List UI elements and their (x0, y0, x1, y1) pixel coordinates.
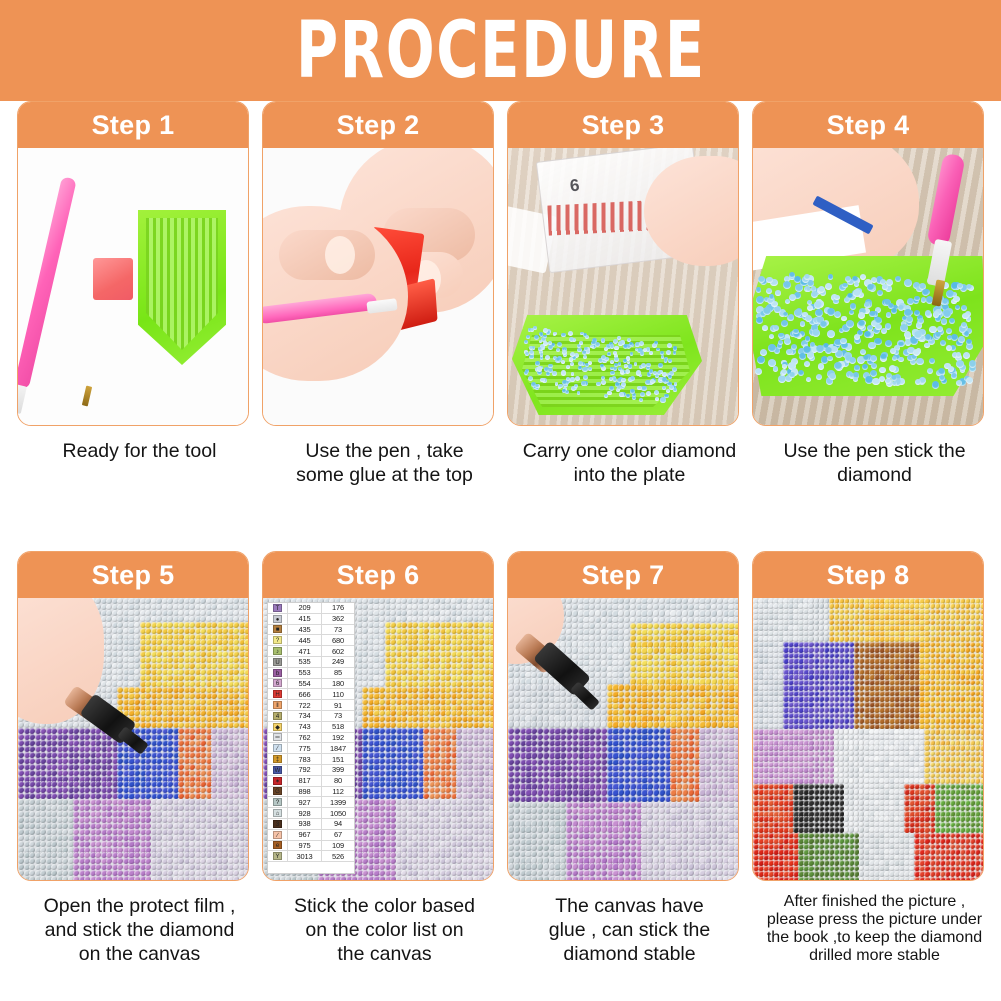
caption-line: the canvas (264, 943, 505, 967)
diamond-bead (244, 829, 248, 835)
diamond-bead (958, 336, 965, 343)
step-badge-label: Step 7 (582, 562, 665, 589)
color-chart-row: ✶81780 (268, 776, 354, 787)
diamond-bead (548, 341, 552, 345)
diamond-bead (850, 303, 857, 310)
diamond-bead (660, 351, 664, 355)
diamond-bead (578, 366, 582, 370)
step-caption-1: Ready for the tool (17, 440, 262, 464)
color-chart-row: b55385 (268, 668, 354, 679)
diamond-bead (244, 616, 248, 622)
step-cell-7: Step 7 The canvas have glue , can stick … (507, 551, 752, 966)
diamond-bead (924, 343, 930, 349)
diamond-bead (582, 367, 587, 372)
color-chart-dmc: 535 (288, 657, 322, 667)
diamond-bead (244, 758, 248, 764)
color-chart-row: e975109 (268, 841, 354, 852)
page-title: PROCEDURE (296, 12, 706, 90)
diamond-bead (933, 311, 940, 318)
color-swatch-symbol: Y (268, 851, 288, 861)
diamond-bead (244, 876, 248, 880)
diamond-bead (244, 628, 248, 634)
diamond-bead (590, 345, 593, 348)
color-chart-row: Y3013526 (268, 851, 354, 862)
color-chart-count: 110 (322, 689, 354, 699)
caption-line: diamond (754, 464, 995, 488)
caption-line: Carry one color diamond (509, 440, 750, 464)
color-swatch-symbol: 3 (268, 819, 288, 829)
color-swatch-symbol: ? (268, 797, 288, 807)
color-chart-count: 526 (322, 851, 354, 861)
diamond-bead (806, 377, 811, 382)
diamond-bead (548, 345, 553, 350)
caption-line: some glue at the top (264, 464, 505, 488)
diamond-bead (619, 392, 624, 397)
diamond-bead (673, 388, 676, 391)
color-swatch-symbol: ✶ (268, 776, 288, 786)
color-swatch-symbol: ⌂ (268, 808, 288, 818)
diamond-bead (244, 610, 248, 616)
diamond-bead (784, 338, 791, 345)
diamond-bead (489, 876, 493, 880)
diamond-bead (489, 829, 493, 835)
diamond-bead (657, 371, 661, 375)
color-chart-count: 94 (322, 819, 354, 829)
color-swatch-symbol: ? (268, 635, 288, 645)
color-chart-row: ⌂9281050 (268, 808, 354, 819)
diamond-bead (575, 376, 580, 381)
diamond-bead (646, 363, 651, 368)
color-chart-row: 393894 (268, 819, 354, 830)
diamond-bead (891, 308, 897, 314)
caption-line: Use the pen , take (264, 440, 505, 464)
diamond-bead (874, 338, 881, 345)
diamond-bead (579, 341, 583, 345)
diamond-bead (789, 272, 795, 278)
color-chart-dmc: 415 (288, 614, 322, 624)
diamond-bead (601, 355, 606, 360)
color-chart-row: 473473 (268, 711, 354, 722)
procedure-infographic: PROCEDURE Step 1 Rea (0, 0, 1001, 1001)
step-cell-1: Step 1 Ready for the tool (17, 101, 262, 464)
diamond-bead (626, 394, 630, 398)
diamond-bead (886, 279, 893, 286)
diamond-bead (244, 699, 248, 705)
color-chart-dmc: 435 (288, 625, 322, 635)
color-chart-count: 112 (322, 787, 354, 797)
diamond-bead (669, 385, 674, 390)
diamond-bead (951, 334, 958, 341)
color-chart-count: 680 (322, 635, 354, 645)
caption-line: and stick the diamond (19, 919, 260, 943)
step-badge-label: Step 6 (337, 562, 420, 589)
diamond-bead (932, 381, 940, 389)
diamond-bead (649, 351, 653, 355)
diamond-bead (524, 371, 528, 375)
diamond-bead (538, 347, 541, 350)
color-swatch-symbol: U (268, 657, 288, 667)
color-chart-count: 109 (322, 841, 354, 851)
color-swatch-symbol: ◆ (268, 722, 288, 732)
step-card-2: Step 2 (262, 101, 494, 426)
color-chart-dmc: 209 (288, 603, 322, 613)
color-chart-row: ■43573 (268, 625, 354, 636)
color-chart-dmc: 975 (288, 841, 322, 851)
diamond-bead (775, 290, 781, 296)
color-chart-count: 85 (322, 668, 354, 678)
step-photo-7 (508, 598, 738, 880)
step-caption-5: Open the protect film , and stick the di… (17, 895, 262, 966)
color-chart-dmc: 938 (288, 819, 322, 829)
diamond-bead (661, 355, 665, 359)
diamond-bead (244, 835, 248, 841)
diamond-bead (762, 325, 768, 331)
color-chart-dmc: 775 (288, 743, 322, 753)
diamond-bead (244, 770, 248, 776)
caption-line: Stick the color based (264, 895, 505, 919)
diamond-bead (805, 336, 811, 342)
step-badge-6: Step 6 (263, 552, 493, 598)
diamond-bead (570, 377, 575, 382)
diamond-bead (863, 355, 869, 361)
color-chart-dmc: 471 (288, 646, 322, 656)
color-chart-count: 91 (322, 700, 354, 710)
step-card-6: Step 6 T209176●415362■43573?445680♪47160… (262, 551, 494, 881)
diamond-bead (828, 274, 834, 280)
diamond-bead (650, 379, 655, 384)
step-photo-5 (18, 598, 248, 880)
diamond-bead (815, 309, 823, 317)
step-badge-4: Step 4 (753, 102, 983, 148)
color-chart-dmc: 967 (288, 830, 322, 840)
diamond-bead (489, 841, 493, 847)
diamond-bead (244, 841, 248, 847)
color-swatch-symbol: 4 (268, 711, 288, 721)
diamond-bead (956, 352, 962, 358)
caption-line: into the plate (509, 464, 750, 488)
diamond-bead (586, 350, 590, 354)
color-chart-count: 1050 (322, 808, 354, 818)
diamond-bead (940, 340, 946, 346)
diamond-bead (758, 276, 765, 283)
diamond-bead (529, 355, 534, 360)
diamond-bead (588, 367, 592, 371)
diamond-bead (829, 373, 836, 380)
steps-grid: Step 1 Ready for the tool Step (0, 101, 1001, 1001)
color-chart-count: 602 (322, 646, 354, 656)
diamond-bead (953, 296, 960, 303)
diamond-bead (629, 342, 633, 346)
diamond-bead (914, 331, 922, 339)
diamond-bead (763, 307, 771, 315)
diamond-bead (614, 357, 619, 362)
color-chart-row: H666110 (268, 689, 354, 700)
diamond-bead (662, 386, 666, 390)
diamond-bead (854, 334, 860, 340)
diamond-bead (922, 289, 929, 296)
step-badge-label: Step 5 (92, 562, 175, 589)
diamond-bead (756, 296, 764, 304)
diamond-bead (798, 370, 804, 376)
diamond-bead (783, 281, 791, 289)
step-cell-3: Step 3 6 Carry one colo (507, 101, 752, 488)
color-chart-count: 180 (322, 679, 354, 689)
diamond-bead (774, 306, 780, 312)
diamond-bead (653, 371, 657, 375)
diamond-bead (860, 349, 866, 355)
diamond-bead (526, 335, 530, 339)
diamond-bead (845, 276, 851, 282)
diamond-bead (962, 313, 969, 320)
color-chart-count: 362 (322, 614, 354, 624)
color-chart-dmc: 553 (288, 668, 322, 678)
color-chart-count: 192 (322, 733, 354, 743)
step-photo-6: T209176●415362■43573?445680♪471602U53524… (263, 598, 493, 880)
step-cell-6: Step 6 T209176●415362■43573?445680♪47160… (262, 551, 507, 966)
color-swatch-symbol: ═ (268, 733, 288, 743)
step-card-3: Step 3 6 (507, 101, 739, 426)
color-chart-count: 399 (322, 765, 354, 775)
diamond-bead (570, 362, 574, 366)
diamond-bead (569, 357, 574, 362)
color-swatch-symbol: e (268, 841, 288, 851)
diamond-bead (854, 365, 859, 370)
diamond-bead (489, 610, 493, 616)
diamond-bead (862, 364, 868, 370)
caption-line: Open the protect film , (19, 895, 260, 919)
diamond-bead (601, 380, 606, 385)
color-chart-dmc: 927 (288, 797, 322, 807)
step-photo-2 (263, 148, 493, 425)
diamond-bead (489, 764, 493, 770)
color-chart-dmc: 666 (288, 689, 322, 699)
diamond-bead (601, 376, 605, 380)
diamond-bead (489, 699, 493, 705)
diamond-bead (914, 296, 920, 302)
color-chart-row: W792399 (268, 765, 354, 776)
diamond-bead (811, 291, 818, 298)
diamond-bead (800, 321, 805, 326)
diamond-bead (244, 693, 248, 699)
color-swatch-symbol: ● (268, 614, 288, 624)
diamond-bead (489, 758, 493, 764)
color-chart-dmc: 743 (288, 722, 322, 732)
caption-line: Use the pen stick the (754, 440, 995, 464)
diamond-bead (601, 338, 605, 342)
diamond-bead (620, 370, 624, 374)
color-swatch-symbol: ♪ (268, 646, 288, 656)
diamond-bead (557, 342, 562, 347)
diamond-bead (937, 326, 943, 332)
color-swatch-symbol: ‡ (268, 754, 288, 764)
color-swatch-symbol: ■ (268, 625, 288, 635)
diamond-bead (807, 300, 812, 305)
diamond-bead (898, 305, 904, 311)
diamond-bead (244, 823, 248, 829)
step-card-1: Step 1 (17, 101, 249, 426)
diamond-bead (489, 681, 493, 687)
color-chart-count: 80 (322, 776, 354, 786)
diamond-bead (489, 770, 493, 776)
diamond-bead (489, 628, 493, 634)
step-badge-label: Step 1 (92, 112, 175, 139)
color-symbol-chart: T209176●415362■43573?445680♪471602U53524… (267, 602, 355, 874)
color-chart-row: ‖72291 (268, 700, 354, 711)
diamond-bead (915, 379, 921, 385)
diamond-bead (640, 351, 645, 356)
diamond-bead (618, 341, 622, 345)
color-chart-row: ═762192 (268, 733, 354, 744)
color-swatch-symbol: H (268, 689, 288, 699)
caption-line: on the color list on (264, 919, 505, 943)
color-chart-dmc: 762 (288, 733, 322, 743)
diamond-bead (552, 371, 557, 376)
diamond-bead (756, 317, 763, 324)
diamond-bead (789, 372, 795, 378)
color-chart-count: 249 (322, 657, 354, 667)
diamond-bead (956, 380, 962, 386)
step-badge-1: Step 1 (18, 102, 248, 148)
diamond-bead (847, 293, 853, 299)
color-swatch-symbol: ⁄ (268, 743, 288, 753)
color-chart-dmc: 554 (288, 679, 322, 689)
color-chart-dmc: 898 (288, 787, 322, 797)
diamond-bead (672, 367, 677, 372)
diamond-bead (637, 386, 642, 391)
color-chart-dmc: 928 (288, 808, 322, 818)
diamond-bead (244, 687, 248, 693)
color-swatch-symbol: W (268, 765, 288, 775)
step-badge-7: Step 7 (508, 552, 738, 598)
color-swatch-symbol: ‖ (268, 700, 288, 710)
diamond-bead (946, 328, 952, 334)
diamond-bead (834, 295, 840, 301)
color-chart-row: ?445680 (268, 635, 354, 646)
diamond-bead (604, 347, 608, 351)
color-swatch-symbol: G (268, 787, 288, 797)
diamond-bead (244, 681, 248, 687)
step-cell-4: Step 4 Use the pen sti (752, 101, 997, 488)
fingernail-icon (325, 236, 355, 274)
steps-row-2: Step 5 Open the protect film , and stick… (0, 551, 1001, 1001)
diamond-bead (630, 352, 634, 356)
diamond-bead (961, 305, 967, 311)
diamond-bead (951, 373, 957, 379)
diamond-bead (489, 693, 493, 699)
diamond-bead (649, 369, 653, 373)
diamond-bead (766, 277, 773, 284)
diamond-bead (489, 823, 493, 829)
diamond-bead (244, 764, 248, 770)
header-banner: PROCEDURE (0, 0, 1001, 101)
diamond-bead (846, 320, 854, 328)
color-swatch-symbol: T (268, 603, 288, 613)
diamond-bead (618, 362, 622, 366)
caption-line: on the canvas (19, 943, 260, 967)
color-chart-count: 1399 (322, 797, 354, 807)
diamond-bead (537, 366, 542, 371)
step-caption-2: Use the pen , take some glue at the top (262, 440, 507, 488)
color-chart-count: 176 (322, 603, 354, 613)
step-card-5: Step 5 (17, 551, 249, 881)
diamond-bead (858, 320, 865, 327)
diamond-bead (528, 376, 533, 381)
step-badge-label: Step 4 (827, 112, 910, 139)
diamond-bead (489, 752, 493, 758)
diamond-bead (628, 364, 633, 369)
color-chart-dmc: 792 (288, 765, 322, 775)
color-chart-row: ♪471602 (268, 646, 354, 657)
color-chart-row: U535249 (268, 657, 354, 668)
diamond-bead (781, 369, 787, 375)
diamond-bead (562, 389, 566, 393)
color-chart-dmc: 734 (288, 711, 322, 721)
color-chart-count: 73 (322, 625, 354, 635)
step-badge-5: Step 5 (18, 552, 248, 598)
step-card-7: Step 7 (507, 551, 739, 881)
color-chart-count: 67 (322, 830, 354, 840)
diamond-bead (641, 386, 646, 391)
diamond-bead (925, 310, 931, 316)
diamond-bead (794, 309, 802, 317)
diamond-bead (664, 359, 668, 363)
color-chart-dmc: 783 (288, 754, 322, 764)
diamond-bead (654, 390, 659, 395)
step-badge-label: Step 2 (337, 112, 420, 139)
diamond-bead (244, 622, 248, 628)
diamond-bead (607, 391, 611, 395)
glue-square-icon (93, 258, 133, 300)
diamond-bead (864, 331, 871, 338)
diamond-bead (769, 294, 775, 300)
diamond-bead (568, 331, 573, 336)
color-chart-row: G898112 (268, 787, 354, 798)
diamond-bead (786, 349, 792, 355)
diamond-bead (489, 616, 493, 622)
color-chart-row: ⁄7751847 (268, 743, 354, 754)
color-chart-dmc: 722 (288, 700, 322, 710)
diamond-bead (869, 311, 876, 318)
color-swatch-symbol: ∕ (268, 830, 288, 840)
step-photo-4 (753, 148, 983, 425)
step-badge-label: Step 3 (582, 112, 665, 139)
color-chart-dmc: 445 (288, 635, 322, 645)
diamond-bead (904, 279, 912, 287)
color-chart-dmc: 817 (288, 776, 322, 786)
diamond-bead (636, 370, 641, 375)
diamond-bead (673, 346, 677, 350)
diamond-bead (938, 368, 945, 375)
step-cell-2: Step 2 (262, 101, 507, 488)
diamond-bead (668, 359, 672, 363)
diamond-bead (803, 346, 811, 354)
color-chart-count: 73 (322, 711, 354, 721)
diamond-bead (778, 333, 783, 338)
diamond-bead (562, 350, 567, 355)
color-chart-dmc: 3013 (288, 851, 322, 861)
color-chart-row: T209176 (268, 603, 354, 614)
step-caption-6: Stick the color based on the color list … (262, 895, 507, 966)
diamond-bead (658, 363, 663, 368)
step-card-4: Step 4 (752, 101, 984, 426)
diamond-bead (581, 381, 586, 386)
diamond-bead (614, 346, 619, 351)
diamond-bead (816, 345, 824, 353)
pen-tip-icon (82, 386, 92, 407)
pink-pen-icon (18, 176, 77, 389)
diamond-bead (935, 332, 941, 338)
color-chart-row: ?9271399 (268, 797, 354, 808)
